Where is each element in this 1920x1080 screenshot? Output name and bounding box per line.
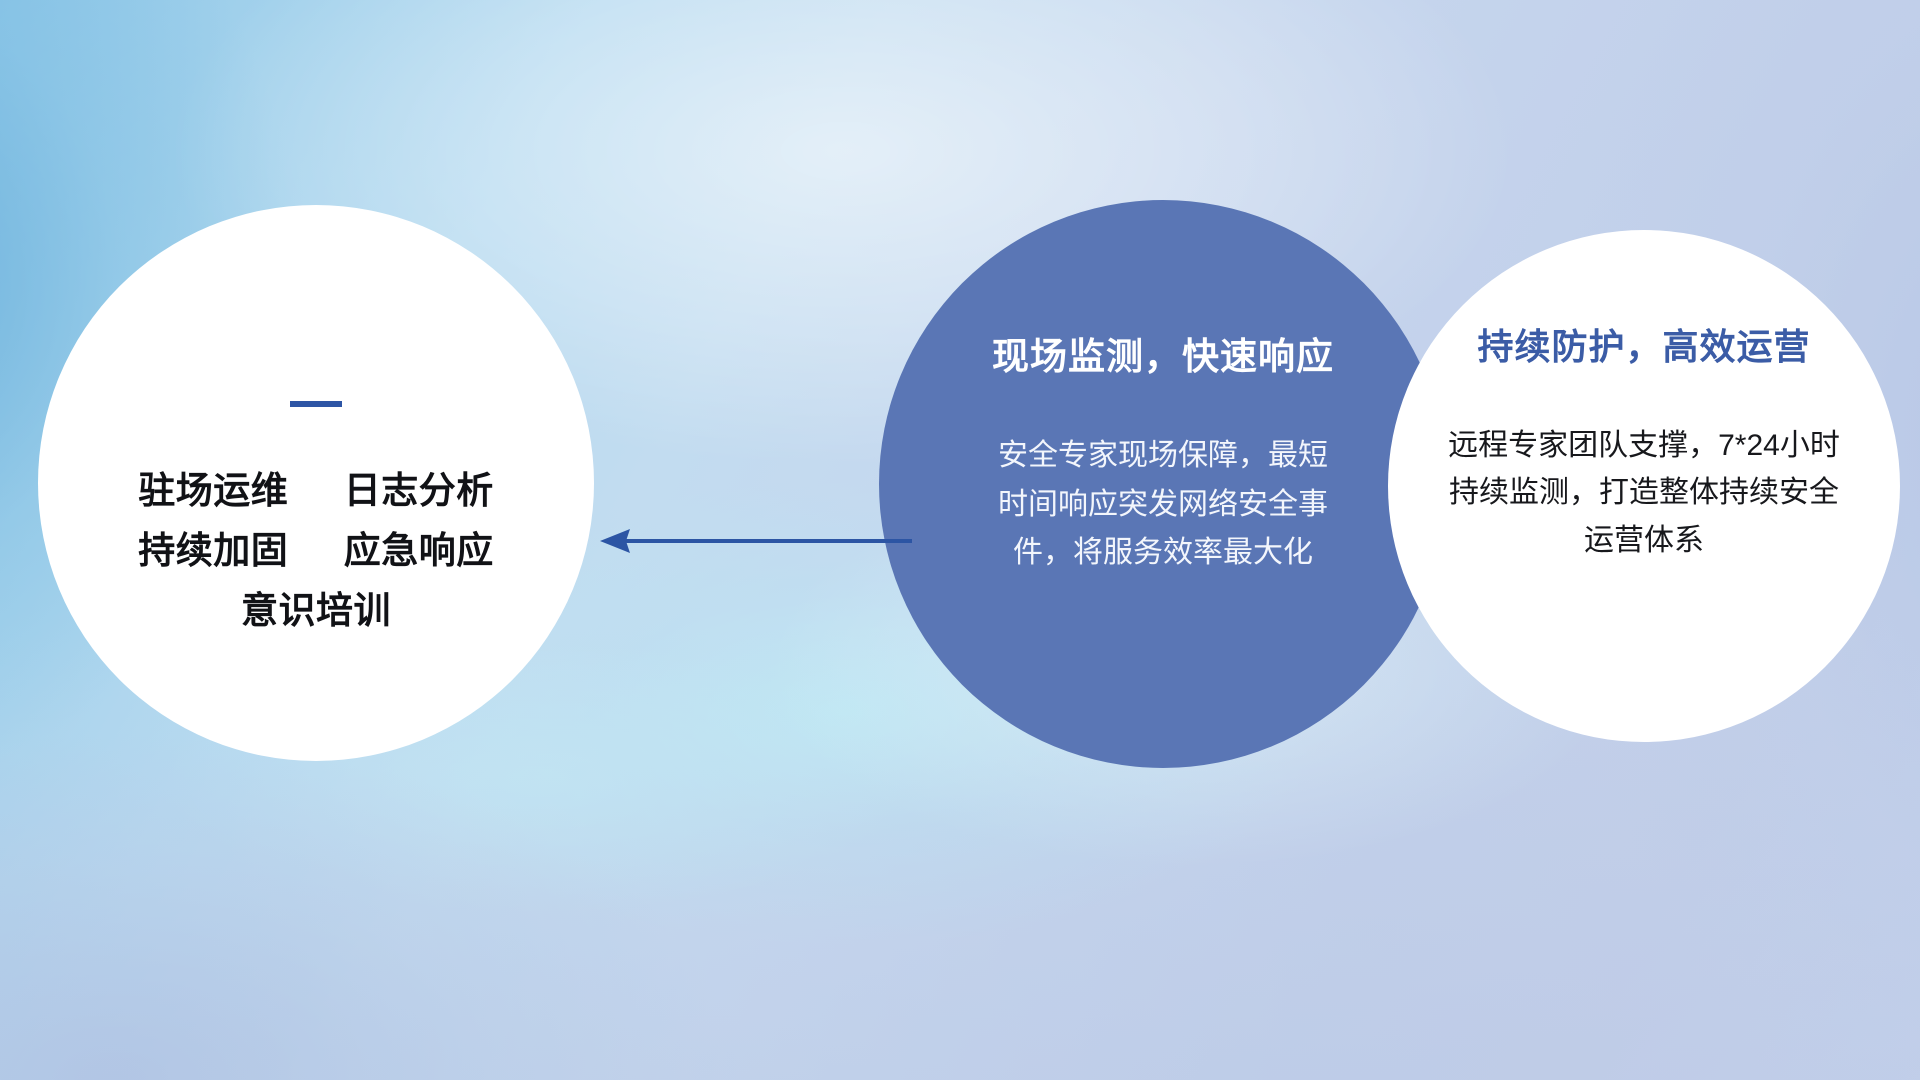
right-circle-title: 持续防护，高效运营 bbox=[1477, 318, 1810, 370]
service-tag-log-analysis: 日志分析 bbox=[344, 470, 494, 511]
slide-canvas: 驻场运维 日志分析 持续加固 应急响应 意识培训 现场监测，快速响应 安全专家现… bbox=[0, 0, 1920, 1080]
service-tag-onsite-ops: 驻场运维 bbox=[138, 470, 288, 511]
right-service-circle[interactable]: 持续防护，高效运营 远程专家团队支撑，7*24小时持续监测，打造整体持续安全运营… bbox=[1388, 230, 1900, 742]
service-tag-list: 驻场运维 日志分析 持续加固 应急响应 意识培训 bbox=[138, 461, 494, 641]
service-tag-awareness-training: 意识培训 bbox=[241, 590, 391, 631]
service-tag-row: 持续加固 应急响应 bbox=[138, 521, 494, 581]
middle-service-circle[interactable]: 现场监测，快速响应 安全专家现场保障，最短时间响应突发网络安全事件，将服务效率最… bbox=[879, 200, 1447, 768]
service-tag-row: 驻场运维 日志分析 bbox=[138, 461, 494, 521]
left-service-circle[interactable]: 驻场运维 日志分析 持续加固 应急响应 意识培训 bbox=[38, 205, 594, 761]
middle-circle-body: 安全专家现场保障，最短时间响应突发网络安全事件，将服务效率最大化 bbox=[998, 432, 1328, 578]
service-tag-emergency: 应急响应 bbox=[344, 530, 494, 571]
service-tag-hardening: 持续加固 bbox=[138, 530, 288, 571]
horizontal-dash-icon bbox=[290, 401, 342, 407]
right-circle-body: 远程专家团队支撑，7*24小时持续监测，打造整体持续安全运营体系 bbox=[1444, 422, 1844, 564]
arrow-left-icon bbox=[596, 524, 912, 558]
middle-circle-title: 现场监测，快速响应 bbox=[992, 326, 1334, 380]
service-tag-row: 意识培训 bbox=[138, 581, 494, 641]
